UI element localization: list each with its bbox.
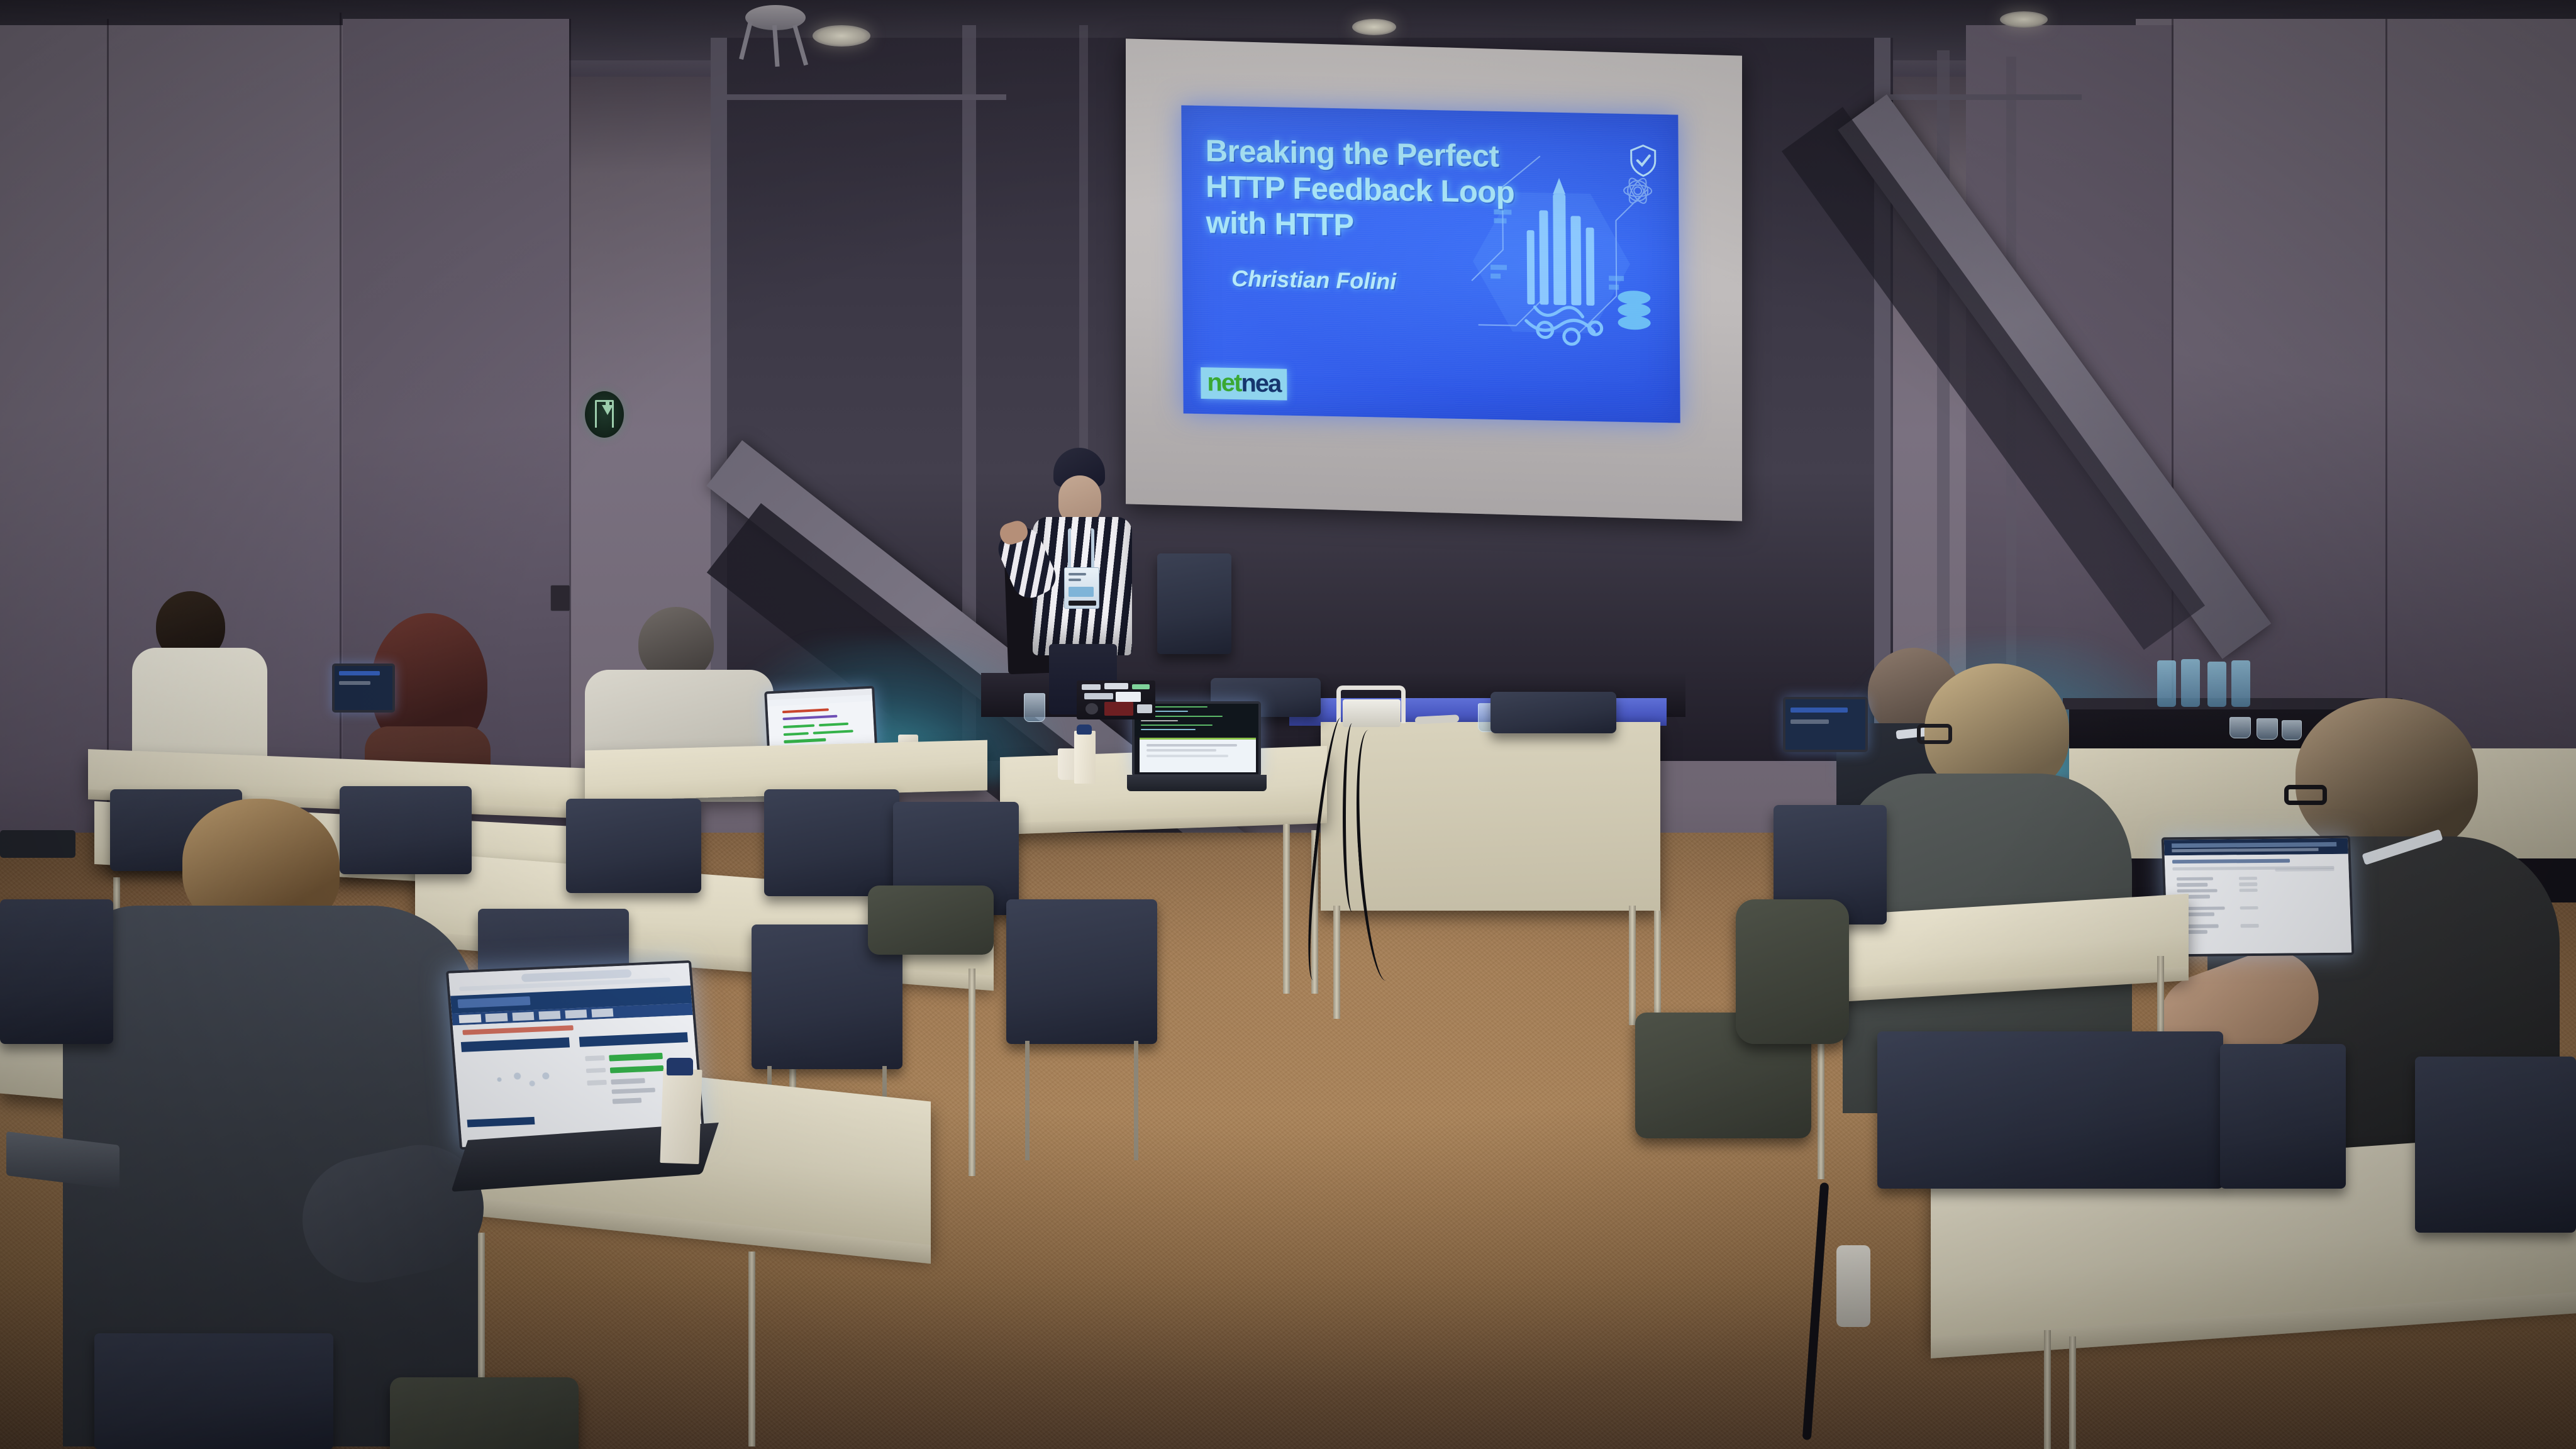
carton-cap: [1077, 724, 1092, 735]
presenter-badge: [1064, 567, 1099, 609]
emergency-exit-icon: [585, 391, 624, 438]
bay-frame-post: [1937, 50, 1950, 730]
table-leg: [1283, 824, 1290, 994]
netnea-logo-net: net: [1207, 369, 1241, 397]
speaker-laptop-keyboard[interactable]: [1127, 775, 1267, 791]
device-stand-loop: [1336, 686, 1406, 723]
audience-laptop-back-left[interactable]: [332, 663, 395, 713]
presenter-lanyard: [1068, 528, 1094, 570]
bay-frame-rail: [1874, 94, 2082, 100]
audience-chair[interactable]: [566, 799, 701, 893]
recessed-downlight: [2000, 11, 2048, 28]
audience-chair-right[interactable]: [1877, 1031, 2223, 1189]
audience-chair[interactable]: [1006, 899, 1157, 1044]
slide-title-line-3: with HTTP: [1206, 205, 1520, 247]
foreground-chair-left[interactable]: [0, 899, 113, 1044]
backpack-floor-right-2: [1736, 899, 1849, 1044]
table-leg: [2069, 1336, 2076, 1449]
table-leg: [1629, 906, 1636, 1025]
person-hair: [2296, 698, 2478, 855]
recessed-downlight: [813, 25, 870, 47]
foreground-chair-right[interactable]: [2220, 1044, 2346, 1189]
table-leg: [969, 969, 975, 1176]
chair-legs: [1025, 1041, 1138, 1160]
netnea-logo: netnea: [1201, 367, 1287, 401]
water-bottle-floor: [1836, 1245, 1870, 1327]
foreground-chair-left-2[interactable]: [94, 1333, 333, 1449]
audience-chair[interactable]: [764, 789, 899, 896]
app-toolbar: [2164, 838, 2348, 856]
sticker-covered-laptop: [1077, 680, 1155, 719]
power-cable: [1343, 723, 1362, 912]
browser-toolbar: [767, 689, 872, 701]
stage-chair[interactable]: [1491, 692, 1616, 733]
backpack-on-chair: [868, 885, 994, 955]
bag-on-floor: [390, 1377, 579, 1449]
water-glass: [1024, 693, 1045, 722]
bay-frame-rail: [711, 94, 1006, 100]
wall-seam: [340, 13, 341, 855]
table-leg: [1333, 906, 1340, 1019]
glasses-icon: [1917, 724, 1952, 744]
laptop-screen: [2162, 836, 2355, 957]
audience-chair-right[interactable]: [2415, 1057, 2576, 1233]
netnea-logo-nea: nea: [1241, 369, 1280, 397]
wall-seam: [569, 19, 571, 774]
wall-switch-plate[interactable]: [550, 585, 570, 611]
slide-title: Breaking the Perfect HTTP Feedback Loop …: [1206, 133, 1521, 247]
device-left-edge: [0, 830, 75, 858]
table-leg: [2044, 1330, 2051, 1449]
table-leg: [1654, 911, 1661, 1024]
form-body: [2165, 854, 2352, 954]
table-leg: [748, 1252, 755, 1446]
slide-title-line-2: HTTP Feedback Loop: [1206, 169, 1520, 211]
slide-title-line-1: Breaking the Perfect: [1206, 133, 1520, 175]
presentation-slide: Breaking the Perfect HTTP Feedback Loop …: [1181, 105, 1680, 423]
world-map-widget: [467, 1052, 572, 1110]
shield-check-icon: [1629, 144, 1657, 177]
presenter-figure: [994, 448, 1170, 712]
carton-cap: [667, 1058, 693, 1075]
recessed-downlight: [1352, 19, 1396, 35]
slide-author: Christian Folini: [1231, 265, 1396, 295]
laptop-screen: [332, 663, 395, 713]
beverage-carton: [660, 1069, 702, 1164]
foreground-laptop-right[interactable]: [2162, 836, 2355, 957]
conference-room-photo: Breaking the Perfect HTTP Feedback Loop …: [0, 0, 2576, 1449]
beverage-carton: [1074, 731, 1096, 784]
document-pane: [1140, 738, 1256, 772]
wall-seam: [2385, 19, 2387, 799]
water-bottle: [2181, 659, 2200, 707]
glasses-icon: [2284, 785, 2327, 805]
